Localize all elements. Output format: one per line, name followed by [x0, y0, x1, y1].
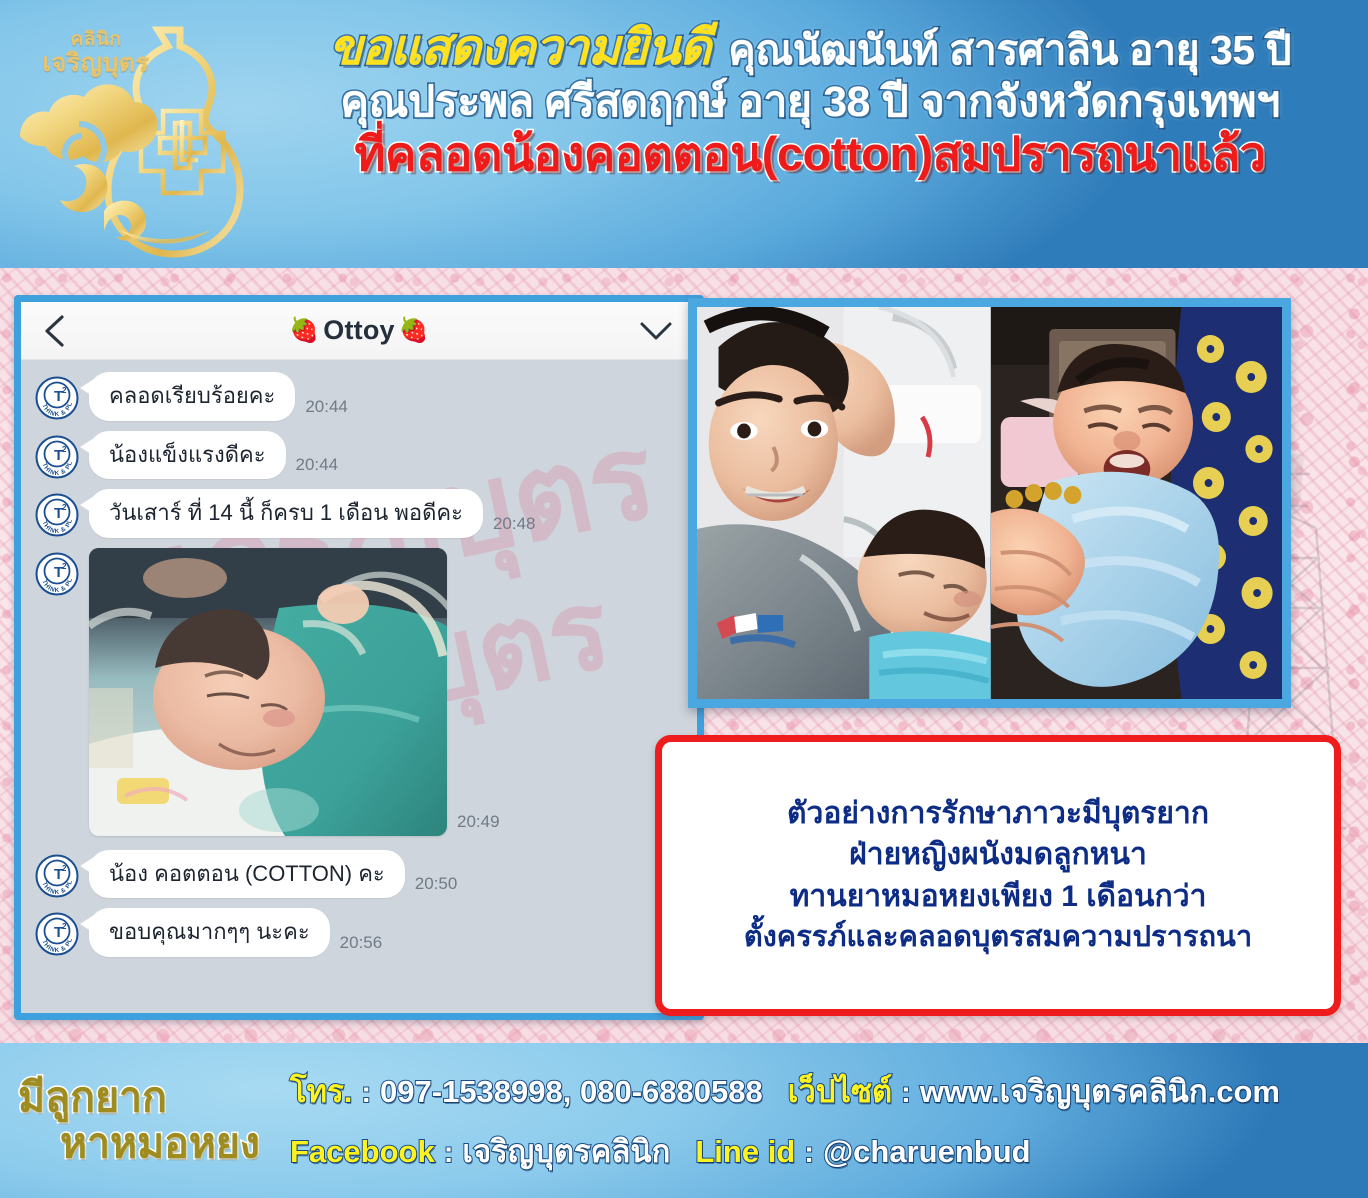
photo-newborn-held: [991, 307, 1282, 699]
message-photo-incubator-baby[interactable]: [89, 548, 447, 836]
separator-2: :: [901, 1077, 911, 1110]
message-bubble-group: คลอดเรียบร้อยคะ 20:44: [79, 372, 348, 421]
separator-3: :: [444, 1137, 454, 1170]
congratulations-text: ขอแสดงความยินดี: [329, 22, 710, 75]
separator-1: :: [361, 1077, 371, 1110]
footer-slogan: มีลูกยาก หาหมอหยง: [0, 1076, 290, 1164]
header-row-1: ขอแสดงความยินดี คุณนัฒนันท์ สารศาลิน อาย…: [329, 22, 1291, 75]
header-banner: คลินิก เจริญบุตร ขอแสดงความยินดี คุณนัฒน…: [0, 0, 1368, 268]
logo-text-line2: เจริญบุตร: [26, 50, 166, 76]
message-row: T 2 THINK & PLAN คลอดเรียบร้อยคะ 20:44: [35, 372, 697, 421]
newborn-in-blue-towel-illustration-icon: [991, 307, 1282, 699]
footer-line-1: โทร. : 097-1538998, 080-6880588 เว็ปไซต์…: [290, 1066, 1354, 1116]
chat-message-list[interactable]: เจริญบุตร เจริญบุตร T 2 THINK & PLAN คลอ…: [21, 360, 697, 1013]
clinic-logo: คลินิก เจริญบุตร: [8, 8, 283, 263]
svg-text:2: 2: [62, 922, 67, 931]
message-text: ขอบคุณมากๆๆ นะคะ: [89, 908, 330, 957]
svg-text:2: 2: [62, 562, 67, 571]
patient-name-2: คุณประพล ศรีสดฤกษ์ อายุ 38 ปี จากจังหวัด…: [340, 78, 1279, 126]
svg-text:2: 2: [62, 386, 67, 395]
chat-screenshot-panel: 🍓 Ottoy 🍓 เจริญบุตร เจริญบุตร T 2: [14, 295, 704, 1020]
message-row: T 2 THINK & PLAN ขอบคุณมากๆๆ นะคะ 20:56: [35, 908, 697, 957]
message-bubble-group: วันเสาร์ ที่ 14 นี้ ก็ครบ 1 เดือน พอดีคะ…: [79, 489, 536, 538]
message-timestamp: 20:48: [493, 514, 536, 538]
avatar-think-and-plan-icon[interactable]: T 2 THINK & PLAN: [35, 493, 79, 537]
facebook-value[interactable]: เจริญบุตรคลินิก: [462, 1126, 670, 1176]
message-timestamp: 20:44: [305, 397, 348, 421]
patient-name-1: คุณนัฒนันท์ สารศาลิน อายุ 35 ปี: [728, 28, 1291, 72]
avatar-think-and-plan-icon[interactable]: T 2 THINK & PLAN: [35, 854, 79, 898]
separator-4: :: [804, 1137, 814, 1170]
avatar-think-and-plan-icon[interactable]: T 2 THINK & PLAN: [35, 912, 79, 956]
message-text: วันเสาร์ ที่ 14 นี้ ก็ครบ 1 เดือน พอดีคะ: [89, 489, 483, 538]
slogan-line-2: หาหมอหยง: [60, 1122, 290, 1165]
photo-bubble-group: 20:49: [79, 548, 500, 836]
message-row: T 2 THINK & PLAN น้อง คอตตอน (COTTON) คะ…: [35, 850, 697, 899]
treatment-line-1: ตัวอย่างการรักษาภาวะมีบุตรยาก: [787, 795, 1209, 833]
mother-newborn-illustration-icon: [697, 307, 991, 699]
header-row-3: ที่คลอดน้องคอตตอน(cotton)สมปรารถนาแล้ว: [354, 129, 1265, 180]
chevron-left-icon[interactable]: [43, 314, 65, 348]
message-bubble-group: น้องแข็งแรงดีคะ 20:44: [79, 431, 338, 480]
treatment-line-3: ทานยาหมอหยงเพียง 1 เดือนกว่า: [790, 878, 1207, 916]
header-text-block: ขอแสดงความยินดี คุณนัฒนันท์ สารศาลิน อาย…: [258, 22, 1362, 252]
phone-label: โทร.: [290, 1066, 352, 1116]
logo-text-line1: คลินิก: [71, 29, 122, 50]
website-label: เว็ปไซต์: [788, 1066, 892, 1116]
message-bubble-group: ขอบคุณมากๆๆ นะคะ 20:56: [79, 908, 382, 957]
chat-title-text: Ottoy: [323, 315, 395, 346]
message-timestamp: 20:50: [415, 874, 458, 898]
website-value[interactable]: www.เจริญบุตรคลินิก.com: [920, 1066, 1280, 1116]
strawberry-icon-left: 🍓: [289, 319, 319, 343]
message-text: คลอดเรียบร้อยคะ: [89, 372, 295, 421]
footer-line-2: Facebook : เจริญบุตรคลินิก Line id : @ch…: [290, 1126, 1354, 1176]
avatar-think-and-plan-icon[interactable]: T 2 THINK & PLAN: [35, 435, 79, 479]
chat-header: 🍓 Ottoy 🍓: [21, 302, 697, 360]
photo-mother-and-newborn: [697, 307, 991, 699]
birth-announcement-text: ที่คลอดน้องคอตตอน(cotton)สมปรารถนาแล้ว: [354, 127, 1265, 180]
treatment-summary-box: ตัวอย่างการรักษาภาวะมีบุตรยาก ฝ่ายหญิงผน…: [655, 735, 1341, 1016]
slogan-line-1: มีลูกยาก: [18, 1076, 290, 1119]
message-row: T 2 THINK & PLAN วันเสาร์ ที่ 14 นี้ ก็ค…: [35, 489, 697, 538]
facebook-label: Facebook: [290, 1134, 435, 1170]
header-row-2: คุณประพล ศรีสดฤกษ์ อายุ 38 ปี จากจังหวัด…: [340, 79, 1279, 125]
svg-text:2: 2: [62, 503, 67, 512]
treatment-line-4: ตั้งครรภ์และคลอดบุตรสมความปรารถนา: [744, 919, 1252, 956]
photo-collage: [688, 298, 1291, 708]
incubator-baby-illustration-icon: [89, 548, 447, 836]
message-row-photo: T 2 THINK & PLAN: [35, 548, 697, 836]
message-timestamp: 20:49: [457, 812, 500, 836]
treatment-line-2: ฝ่ายหญิงผนังมดลูกหนา: [849, 836, 1147, 874]
message-text: น้อง คอตตอน (COTTON) คะ: [89, 850, 405, 899]
avatar-think-and-plan-icon[interactable]: T 2 THINK & PLAN: [35, 376, 79, 420]
line-id-label: Line id: [695, 1134, 795, 1170]
chat-title: 🍓 Ottoy 🍓: [21, 315, 697, 346]
message-bubble-group: น้อง คอตตอน (COTTON) คะ 20:50: [79, 850, 457, 899]
line-id-value[interactable]: @charuenbud: [823, 1134, 1031, 1170]
avatar-think-and-plan-icon[interactable]: T 2 THINK & PLAN: [35, 552, 79, 596]
message-text: น้องแข็งแรงดีคะ: [89, 431, 286, 480]
message-timestamp: 20:44: [296, 455, 339, 479]
footer-contact-bar: มีลูกยาก หาหมอหยง โทร. : 097-1538998, 08…: [0, 1043, 1368, 1198]
logo-text: คลินิก เจริญบุตร: [26, 30, 166, 76]
poster-root: คลินิก เจริญบุตร ขอแสดงความยินดี คุณนัฒน…: [0, 0, 1368, 1198]
message-timestamp: 20:56: [340, 933, 383, 957]
chevron-down-icon[interactable]: [639, 320, 673, 342]
svg-text:2: 2: [62, 445, 67, 454]
footer-contact-details: โทร. : 097-1538998, 080-6880588 เว็ปไซต์…: [290, 1066, 1368, 1176]
svg-text:2: 2: [62, 864, 67, 873]
strawberry-icon-right: 🍓: [399, 319, 429, 343]
phone-value[interactable]: 097-1538998, 080-6880588: [380, 1074, 763, 1110]
message-row: T 2 THINK & PLAN น้องแข็งแรงดีคะ 20:44: [35, 431, 697, 480]
